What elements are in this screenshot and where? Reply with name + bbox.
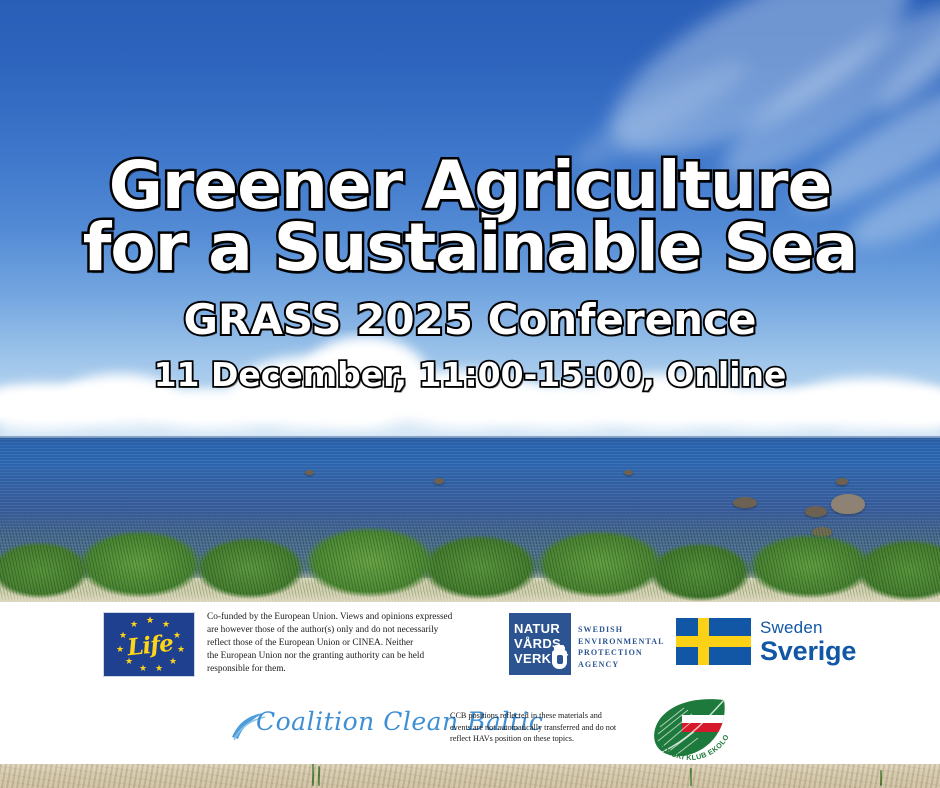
eu-funding-line: reflect those of the European Union or C… <box>207 637 479 650</box>
swedish-epa-line: ENVIRONMENTAL <box>578 636 665 648</box>
sea-rock <box>836 478 848 485</box>
eu-funding-line: the European Union nor the granting auth… <box>207 650 479 663</box>
swedish-epa-line: AGENCY <box>578 659 665 671</box>
ccb-disclaimer-line: CCB positions reflected in these materia… <box>450 710 630 722</box>
naturvardsverket-logo: NATUR VÅRDS VERKET <box>509 613 571 675</box>
eu-funding-statement: Co-funded by the European Union. Views a… <box>207 611 479 676</box>
headline-block: Greener Agriculture for a Sustainable Se… <box>0 155 940 393</box>
swedish-epa-name: SWEDISH ENVIRONMENTAL PROTECTION AGENCY <box>578 624 665 670</box>
ccb-disclaimer-line: reflect HAVs position on these topics. <box>450 733 630 745</box>
horizon-line <box>0 436 940 438</box>
sea-rock <box>831 494 865 514</box>
poster-event-details: 11 December, 11:00-15:00, Online <box>0 357 940 393</box>
swedish-epa-line: PROTECTION <box>578 647 665 659</box>
coalition-clean-baltic-logo: Coalition Clean Baltic <box>230 705 445 745</box>
eu-funding-line: Co-funded by the European Union. Views a… <box>207 611 479 624</box>
swedish-flag-icon <box>676 618 751 665</box>
sea-rock <box>733 497 757 508</box>
eu-funding-line: are however those of the author(s) only … <box>207 624 479 637</box>
naturvardsverket-line-1: NATUR <box>514 621 571 636</box>
ccb-disclaimer-line: events are not automatically transferred… <box>450 722 630 734</box>
sweden-label-sv: Sverige <box>760 637 856 666</box>
sea-rock <box>305 470 314 475</box>
polski-klub-ekologiczny-logo: POLSKI KLUB EKOLOGICZNY <box>648 694 744 764</box>
sea-rock <box>434 478 444 484</box>
vegetation-texture <box>0 512 940 604</box>
leaf-icon: POLSKI KLUB EKOLOGICZNY <box>648 694 744 764</box>
lower-sand-strip <box>0 764 940 788</box>
sea-rock <box>624 470 633 475</box>
sweden-label-en: Sweden <box>760 619 823 637</box>
poster-title-line-1: Greener Agriculture <box>0 155 940 217</box>
swedish-epa-line: SWEDISH <box>578 624 665 636</box>
poster-subtitle: GRASS 2025 Conference <box>0 297 940 343</box>
poster-title-line-2: for a Sustainable Sea <box>0 217 940 279</box>
life-programme-logo: ★ ★ ★ ★ ★ ★ ★ ★ ★ ★ ★ ★ Life <box>103 612 195 677</box>
eu-funding-line: responsible for them. <box>207 663 479 676</box>
conference-poster: Greener Agriculture for a Sustainable Se… <box>0 0 940 788</box>
life-wordmark: Life <box>101 608 199 682</box>
crown-emblem-icon <box>552 650 567 669</box>
ccb-disclaimer: CCB positions reflected in these materia… <box>450 710 630 745</box>
